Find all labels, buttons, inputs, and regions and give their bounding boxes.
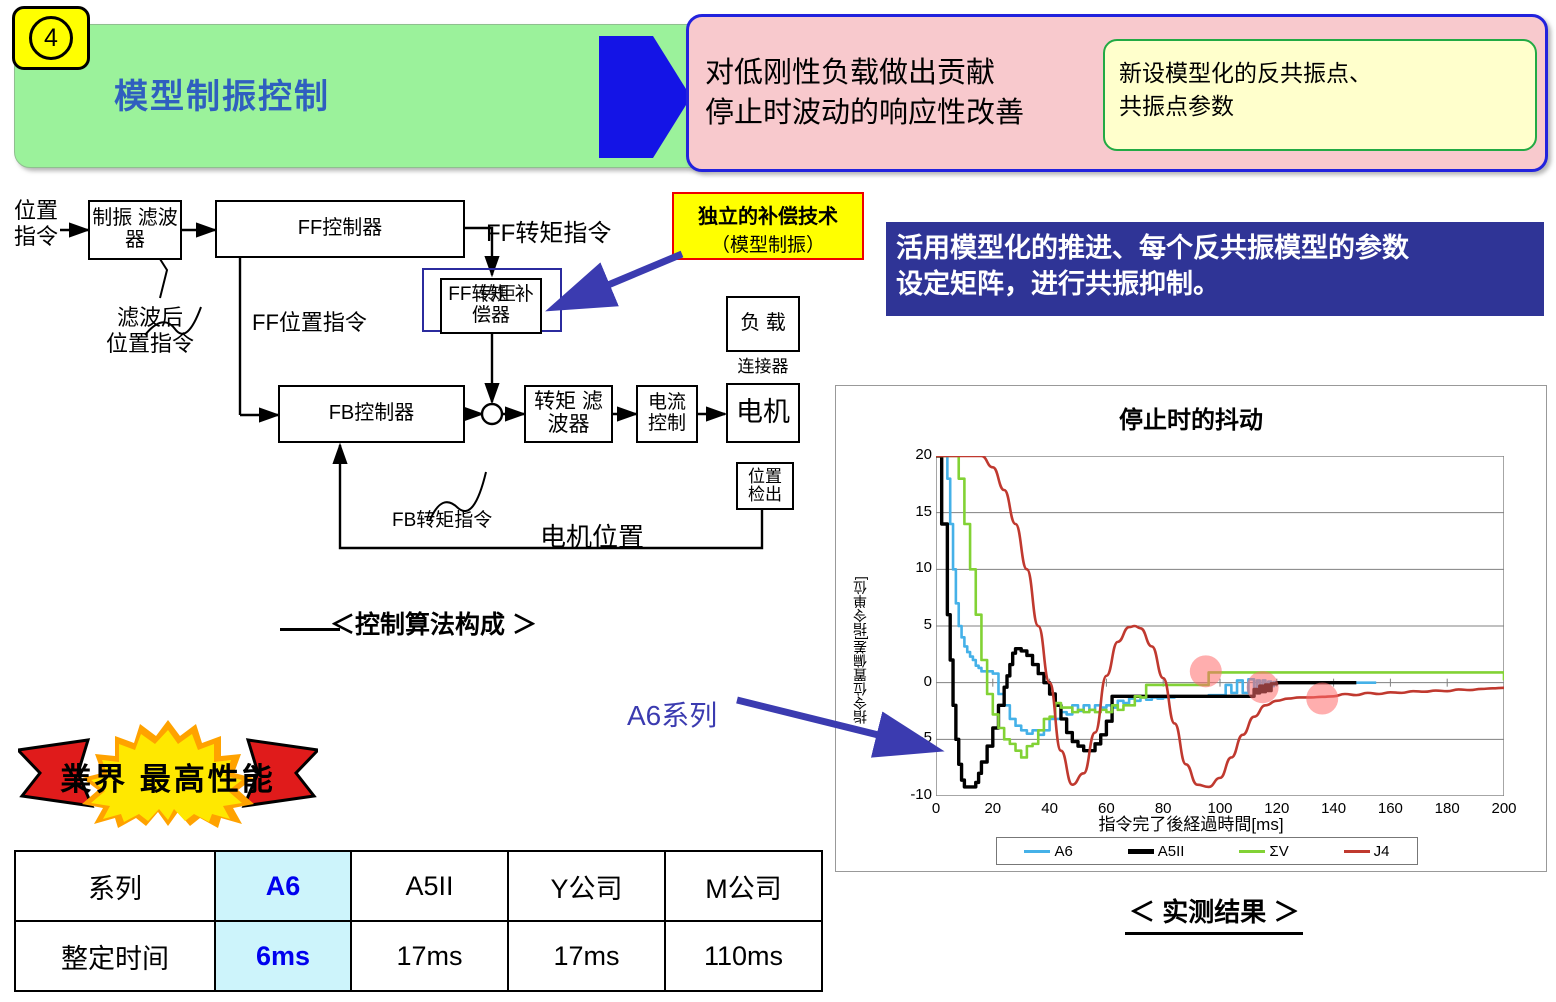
chart-y-tick-label: 0 [898,673,932,690]
label-filtered-position-command: 滤波后 位置指令 [106,305,194,358]
best-in-industry-badge: 業界 最高性能 [18,718,318,828]
right-arrow-icon [599,36,691,158]
label-ff-torque-overlay: 转矩 [478,284,516,307]
table-row: 系列 A6 A5II Y公司 M公司 [15,851,822,921]
statement-banner: 活用模型化的推进、每个反共振模型的参数 设定矩阵，进行共振抑制。 [886,222,1544,316]
chart-y-tick-label: 10 [898,559,932,576]
table-cell-1-0: 17ms [351,921,508,991]
legend-swatch-icon [1024,850,1050,853]
chart-x-tick-label: 0 [916,800,956,817]
chart-series-j4 [936,456,1504,787]
statement-text: 活用模型化的推进、每个反共振模型的参数 设定矩阵，进行共振抑制。 [896,230,1536,303]
parameter-note-panel: 新设模型化的反共振点、 共振点参数 [1103,39,1537,151]
badge-text: 業界 最高性能 [18,754,318,799]
table-cell-0-1: Y公司 [508,851,665,921]
table-cell-a6-0: A6 [215,851,351,921]
legend-swatch-icon [1239,850,1265,853]
block-fb-controller: FB控制器 [278,385,465,443]
block-vibration-suppression-filter: 制振 滤波器 [88,200,182,260]
callout-arrow-icon [540,250,690,320]
chart-series-v [936,456,1504,757]
chart-plot-area [936,456,1504,796]
chart-x-tick-label: 20 [973,800,1013,817]
algorithm-caption: ＜控制算法构成 ＞ [330,605,537,641]
table-cell-a6-1: 6ms [215,921,351,991]
a6-annotation-arrow-icon [735,690,950,760]
chart-x-tick-label: 80 [1143,800,1183,817]
legend-label: A6 [1054,843,1072,860]
settle-highlight-sigmav [1190,655,1222,687]
chart-x-tick-label: 60 [1086,800,1126,817]
table-cell-header-1: 整定时间 [15,921,215,991]
header-banner: 模型制振控制 4 对低刚性负载做出贡献 停止时波动的响应性改善 新设模型化的反共… [14,14,1542,166]
legend-item-a5ii: A5II [1128,843,1185,860]
chart-x-tick-label: 180 [1427,800,1467,817]
chart-x-ticks: 020406080100120140160180200 [936,800,1504,820]
chart-x-tick-label: 160 [1370,800,1410,817]
step-number: 4 [29,16,73,60]
block-motor: 电机 [726,383,800,443]
chart-x-tick-label: 120 [1257,800,1297,817]
chart-x-tick-label: 40 [1030,800,1070,817]
step-number-badge: 4 [12,6,90,70]
legend-item-j4: J4 [1344,843,1390,860]
legend-item-a6: A6 [1024,843,1072,860]
settle-highlight-a5ii [1247,671,1279,703]
chart-y-tick-label: 15 [898,503,932,520]
chart-x-tick-label: 200 [1484,800,1524,817]
block-coupling: 连接器 [728,352,798,382]
block-torque-filter: 转矩 滤波器 [524,385,613,443]
comparison-table: 系列 A6 A5II Y公司 M公司 整定时间 6ms 17ms 17ms 11… [14,850,823,992]
legend-label: ΣV [1269,843,1288,860]
chart-legend: A6A5IIΣVJ4 [996,837,1418,865]
label-position-command: 位置 指令 [14,198,58,251]
table-cell-header-0: 系列 [15,851,215,921]
label-fb-torque-command: FB转矩指令 [392,510,492,533]
compensation-callout: 独立的补偿技术 （模型制振） [672,192,864,260]
a6-series-annotation: A6系列 [627,694,717,734]
benefit-panel: 对低刚性负载做出贡献 停止时波动的响应性改善 新设模型化的反共振点、 共振点参数 [686,14,1548,172]
chart-x-tick-label: 140 [1314,800,1354,817]
legend-swatch-icon [1344,850,1370,853]
table-cell-0-0: A5II [351,851,508,921]
chart-title: 停止时的抖动 [836,400,1546,435]
table-row: 整定时间 6ms 17ms 17ms 110ms [15,921,822,991]
callout-line-1: 独立的补偿技术 [674,200,862,229]
chart-y-tick-label: 5 [898,616,932,633]
parameter-note-text: 新设模型化的反共振点、 共振点参数 [1119,57,1372,124]
page-title: 模型制振控制 [114,69,330,118]
legend-label: J4 [1374,843,1390,860]
callout-line-2: （模型制振） [674,230,862,257]
block-current-control: 电流 控制 [636,385,698,443]
block-ff-controller: FF控制器 [215,200,465,258]
block-load: 负 载 [726,296,800,352]
chart-series-a5ii [936,456,1356,787]
legend-item-v: ΣV [1239,843,1288,860]
chart-y-tick-label: 20 [898,446,932,463]
table-cell-1-1: 17ms [508,921,665,991]
chart-x-tick-label: 100 [1200,800,1240,817]
benefit-text: 对低刚性负载做出贡献 停止时波动的响应性改善 [705,53,1024,133]
settle-highlight-j4 [1306,683,1338,715]
chart-svg [936,456,1504,796]
label-ff-position-command: FF位置指令 [252,310,367,336]
label-motor-position: 电机位置 [540,522,644,553]
label-ff-torque-command: FF转矩指令 [486,220,611,249]
block-position-detection: 位置 检出 [736,462,794,510]
vibration-chart-panel: 停止时的抖动 指令位置偏差[指令単位] 指令完了後経過時間[ms] -10-50… [835,385,1547,872]
legend-label: A5II [1158,843,1185,860]
result-caption: ＜ 实测结果 ＞ [1125,892,1303,935]
table-cell-1-2: 110ms [665,921,822,991]
table-cell-0-2: M公司 [665,851,822,921]
legend-swatch-icon [1128,849,1154,854]
